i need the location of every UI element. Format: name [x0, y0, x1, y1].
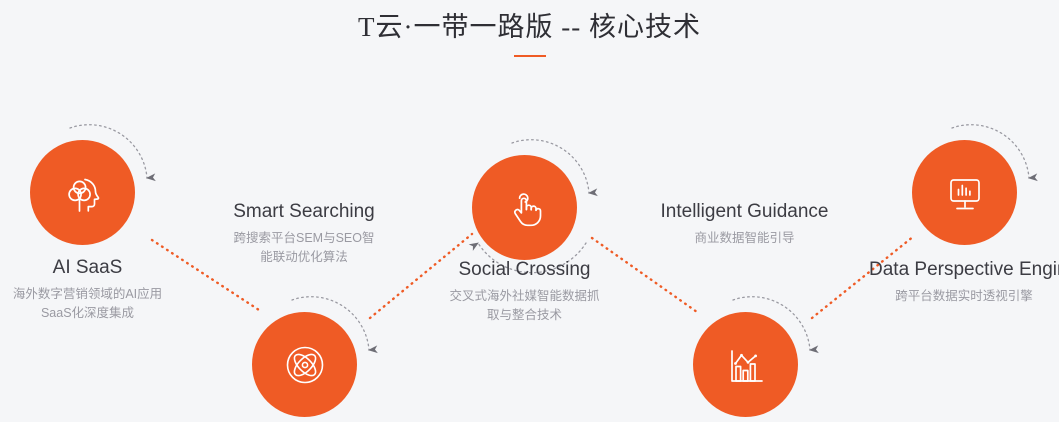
node-intelligent-guidance-title: Intelligent Guidance [654, 200, 835, 224]
node-smart-searching-desc: 跨搜索平台SEM与SEO智 能联动优化算法 [215, 229, 393, 267]
node-data-perspective-engine-desc: 跨平台数据实时透视引擎 [869, 287, 1059, 306]
node-smart-searching-title: Smart Searching [215, 200, 393, 224]
desc-line: 交叉式海外社媒智能数据抓 [434, 287, 615, 306]
node-social-crossing-title: Social Crossing [434, 258, 615, 282]
node-data-perspective-engine-label: Data Perspective Engine 跨平台数据实时透视引擎 [869, 258, 1059, 306]
node-intelligent-guidance-desc: 商业数据智能引导 [654, 229, 835, 248]
node-ai-saas-title: AI SaaS [0, 256, 175, 280]
monitor-chart-icon [940, 168, 990, 218]
node-social-crossing-circle[interactable] [472, 155, 577, 260]
desc-line: 取与整合技术 [434, 306, 615, 325]
node-smart-searching-label: Smart Searching 跨搜索平台SEM与SEO智 能联动优化算法 [215, 200, 393, 267]
desc-line: 跨平台数据实时透视引擎 [869, 287, 1059, 306]
desc-line: 跨搜索平台SEM与SEO智 [215, 229, 393, 248]
node-ai-saas-desc: 海外数字营销领域的AI应用 SaaS化深度集成 [0, 285, 175, 323]
node-social-crossing-label: Social Crossing 交叉式海外社媒智能数据抓 取与整合技术 [434, 258, 615, 325]
atom-icon [279, 339, 331, 391]
desc-line: 海外数字营销领域的AI应用 [0, 285, 175, 304]
node-social-crossing-desc: 交叉式海外社媒智能数据抓 取与整合技术 [434, 287, 615, 325]
bar-chart-line-icon [720, 339, 772, 391]
node-ai-saas-label: AI SaaS 海外数字营销领域的AI应用 SaaS化深度集成 [0, 256, 175, 323]
desc-line: 能联动优化算法 [215, 248, 393, 267]
node-smart-searching-circle[interactable] [252, 312, 357, 417]
node-intelligent-guidance-circle[interactable] [693, 312, 798, 417]
node-ai-saas-circle[interactable] [30, 140, 135, 245]
node-data-perspective-engine-title: Data Perspective Engine [869, 258, 1059, 282]
desc-line: 商业数据智能引导 [654, 229, 835, 248]
infographic-stage: T云·一带一路版 -- 核心技术 [0, 0, 1059, 422]
node-data-perspective-engine-circle[interactable] [912, 140, 1017, 245]
node-intelligent-guidance-label: Intelligent Guidance 商业数据智能引导 [654, 200, 835, 248]
desc-line: SaaS化深度集成 [0, 304, 175, 323]
brain-head-icon [57, 167, 109, 219]
tap-hand-icon [500, 183, 550, 233]
